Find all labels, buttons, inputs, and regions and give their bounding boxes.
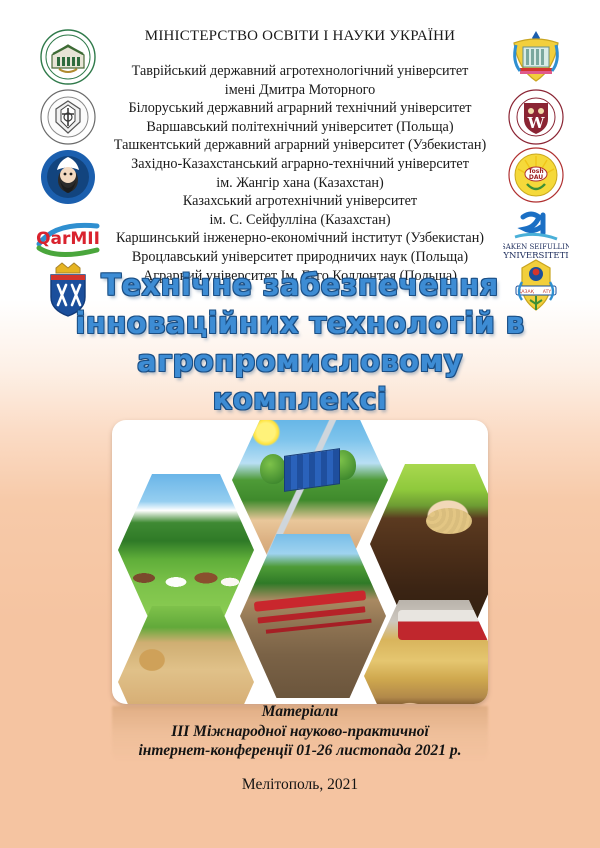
wroclaw-seal-logo: W [500, 86, 572, 148]
zhangir-khan-logo [32, 146, 104, 208]
hex-straw-bale-field [118, 606, 254, 704]
svg-text:W: W [527, 114, 546, 132]
university-line: імені Дмитра Моторного [70, 81, 530, 100]
svg-text:SAKEN SEIFULLIN: SAKEN SEIFULLIN [503, 243, 569, 251]
materials-line: ІІІ Міжнародної науково-практичної [40, 722, 560, 742]
university-line: Казахський агротехнічний університет [70, 192, 530, 211]
warsaw-seal-logo [32, 86, 104, 148]
university-line: Ташкентський державний аграрний універси… [70, 136, 530, 155]
materials-line: інтернет-конференції 01-26 листопада 202… [40, 741, 560, 761]
university-line: ім. Жангір хана (Казахстан) [70, 174, 530, 193]
title-line: інноваційних технологій в [60, 304, 540, 342]
university-line: Варшавський політехнічний університет (П… [70, 118, 530, 137]
svg-text:QarMII: QarMII [36, 229, 100, 249]
tashkent-dau-logo: Tosh DAU [500, 144, 572, 206]
page-title: Технічне забезпечення інноваційних техно… [60, 266, 540, 418]
university-line: ім. С. Сейфулліна (Казахстан) [70, 211, 530, 230]
materials-line: Матеріали [40, 702, 560, 722]
hex-plough-cultivator [240, 534, 386, 698]
btsau-emblem-logo [32, 26, 104, 88]
conference-proceedings-cover: МІНІСТЕРСТВО ОСВІТИ І НАУКИ УКРАЇНИ Тавр… [0, 0, 600, 848]
university-line: Каршинський інженерно-економічний інстит… [70, 229, 530, 248]
materials-block: Матеріали ІІІ Міжнародної науково-практи… [40, 702, 560, 761]
tdatu-emblem-logo [500, 26, 572, 88]
title-line: комплексі [60, 380, 540, 418]
city-year: Мелітополь, 2021 [0, 776, 600, 794]
university-list: Таврійський державний агротехнологічний … [70, 62, 530, 285]
university-line: Таврійський державний агротехнологічний … [70, 62, 530, 81]
hex-cattle-pasture [118, 474, 254, 626]
title-line: агропромисловому [60, 342, 540, 380]
university-line: Вроцлавський університет природничих нау… [70, 248, 530, 267]
title-line: Технічне забезпечення [60, 266, 540, 304]
university-line: Західно-Казахстанський аграрно-технічний… [70, 155, 530, 174]
svg-text:ATY: ATY [543, 289, 552, 295]
university-line: Білоруський державний аграрний технічний… [70, 99, 530, 118]
svg-text:DAU: DAU [529, 174, 543, 181]
agriculture-hexagon-collage [112, 420, 488, 704]
